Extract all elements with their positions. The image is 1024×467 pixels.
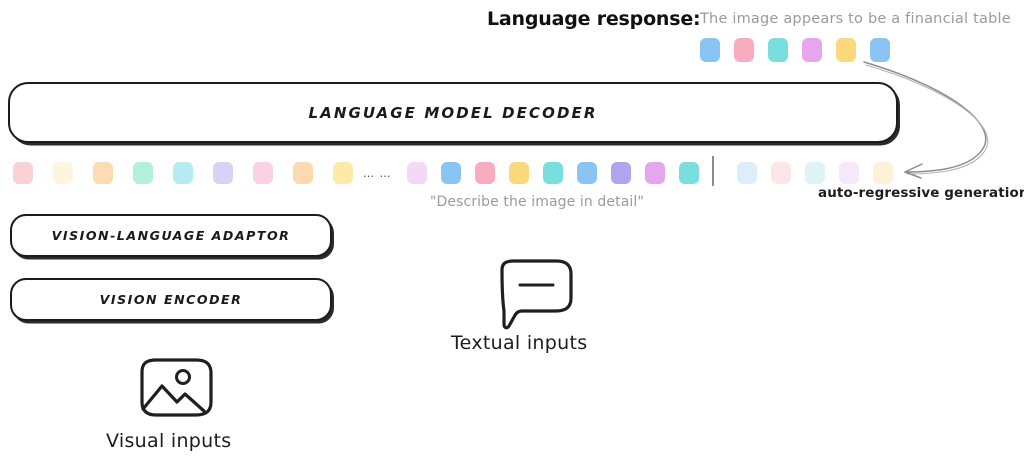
text-token xyxy=(577,162,597,184)
adaptor-label: VISION-LANGUAGE ADAPTOR xyxy=(52,228,291,243)
visual-token xyxy=(53,162,73,184)
sequence-divider xyxy=(712,156,714,186)
encoder-label: VISION ENCODER xyxy=(100,292,243,307)
language-model-decoder-box[interactable]: LANGUAGE MODEL DECODER xyxy=(8,82,898,143)
speech-bubble-outline xyxy=(502,261,571,328)
text-token xyxy=(543,162,563,184)
generated-token xyxy=(839,162,859,184)
visual-token xyxy=(333,162,353,184)
autoregressive-generation-caption: auto-regressive generation xyxy=(818,185,1024,201)
visual-inputs-label: Visual inputs xyxy=(106,430,231,452)
vision-encoder-box[interactable]: VISION ENCODER xyxy=(10,278,332,321)
visual-token xyxy=(293,162,313,184)
visual-token xyxy=(173,162,193,184)
generated-token xyxy=(873,162,893,184)
text-token xyxy=(441,162,461,184)
decoder-label: LANGUAGE MODEL DECODER xyxy=(309,104,598,122)
output-token xyxy=(836,38,856,62)
picture-sun-circle xyxy=(177,371,190,384)
visual-token xyxy=(253,162,273,184)
output-token xyxy=(870,38,890,62)
output-token xyxy=(700,38,720,62)
generated-token xyxy=(737,162,757,184)
output-token xyxy=(802,38,822,62)
text-token xyxy=(407,162,427,184)
vision-language-adaptor-box[interactable]: VISION-LANGUAGE ADAPTOR xyxy=(10,214,332,257)
text-token xyxy=(645,162,665,184)
text-token xyxy=(611,162,631,184)
text-token xyxy=(475,162,495,184)
picture-frame-outline xyxy=(142,360,211,415)
image-picture-icon xyxy=(134,356,220,426)
visual-token xyxy=(13,162,33,184)
output-token-row xyxy=(700,38,900,62)
output-token xyxy=(734,38,754,62)
prompt-caption: "Describe the image in detail" xyxy=(430,194,644,210)
output-token xyxy=(768,38,788,62)
visual-token xyxy=(133,162,153,184)
visual-token xyxy=(93,162,113,184)
textual-inputs-label: Textual inputs xyxy=(451,332,587,354)
generated-token xyxy=(805,162,825,184)
language-response-label: Language response: xyxy=(487,8,700,30)
visual-token xyxy=(213,162,233,184)
token-ellipsis: … … xyxy=(363,168,392,179)
generated-token xyxy=(771,162,791,184)
text-token xyxy=(509,162,529,184)
speech-bubble-icon xyxy=(492,258,584,330)
input-sequence-token-row: … … xyxy=(0,162,1024,186)
text-token xyxy=(679,162,699,184)
language-response-text: The image appears to be a financial tabl… xyxy=(700,11,1011,27)
picture-mountain-path xyxy=(143,386,204,411)
